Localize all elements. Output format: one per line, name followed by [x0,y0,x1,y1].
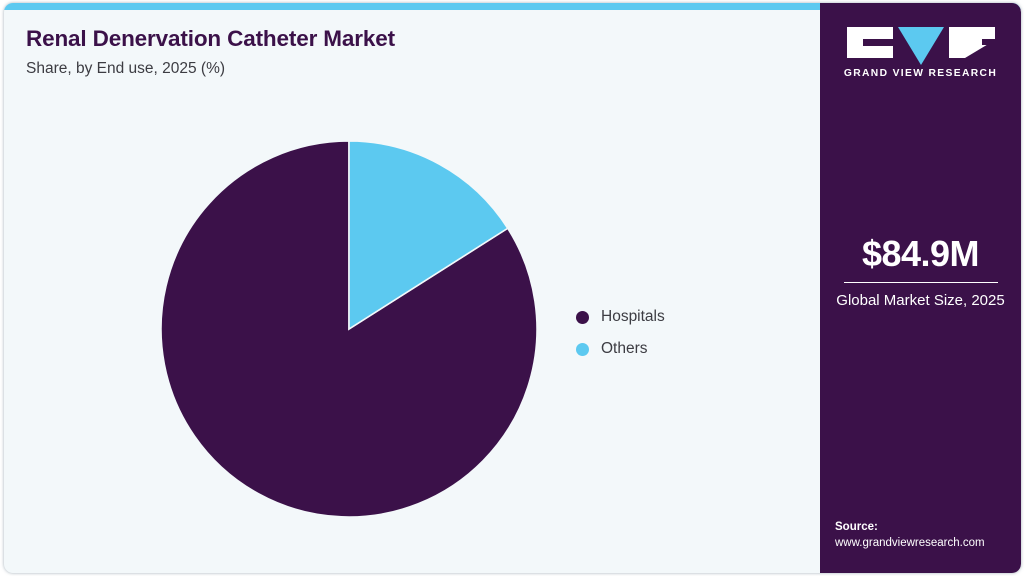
logo-v-triangle-icon [898,27,944,65]
source-label: Source: [835,519,1021,536]
infographic-card: Renal Denervation Catheter Market Share,… [4,3,1021,573]
pie-chart [159,139,539,519]
headline-stat: $84.9M Global Market Size, 2025 [820,235,1021,311]
legend-swatch-others [576,343,589,356]
legend-item-hospitals[interactable]: Hospitals [576,301,665,333]
legend-label-hospitals: Hospitals [601,308,665,326]
chart-header: Renal Denervation Catheter Market Share,… [26,25,666,78]
source-block: Source: www.grandviewresearch.com [835,519,1021,552]
page-subtitle: Share, by End use, 2025 (%) [26,59,666,78]
pie-chart-svg [159,139,539,519]
chart-legend: Hospitals Others [576,301,665,365]
brand-logo: GRAND VIEW RESEARCH [820,27,1021,79]
infographic-root: Renal Denervation Catheter Market Share,… [0,0,1025,576]
stat-divider [844,282,998,283]
brand-name: GRAND VIEW RESEARCH [820,68,1021,79]
legend-swatch-hospitals [576,311,589,324]
stat-caption: Global Market Size, 2025 [820,291,1021,311]
legend-label-others: Others [601,340,648,358]
page-title: Renal Denervation Catheter Market [26,25,666,52]
logo-g-icon [847,27,893,58]
logo-marks [820,27,1021,60]
stat-value: $84.9M [820,235,1021,273]
logo-r-icon [949,27,995,58]
legend-item-others[interactable]: Others [576,333,665,365]
source-url[interactable]: www.grandviewresearch.com [835,535,1021,552]
plot-area: Hospitals Others [4,103,824,573]
side-panel: GRAND VIEW RESEARCH $84.9M Global Market… [820,3,1021,573]
